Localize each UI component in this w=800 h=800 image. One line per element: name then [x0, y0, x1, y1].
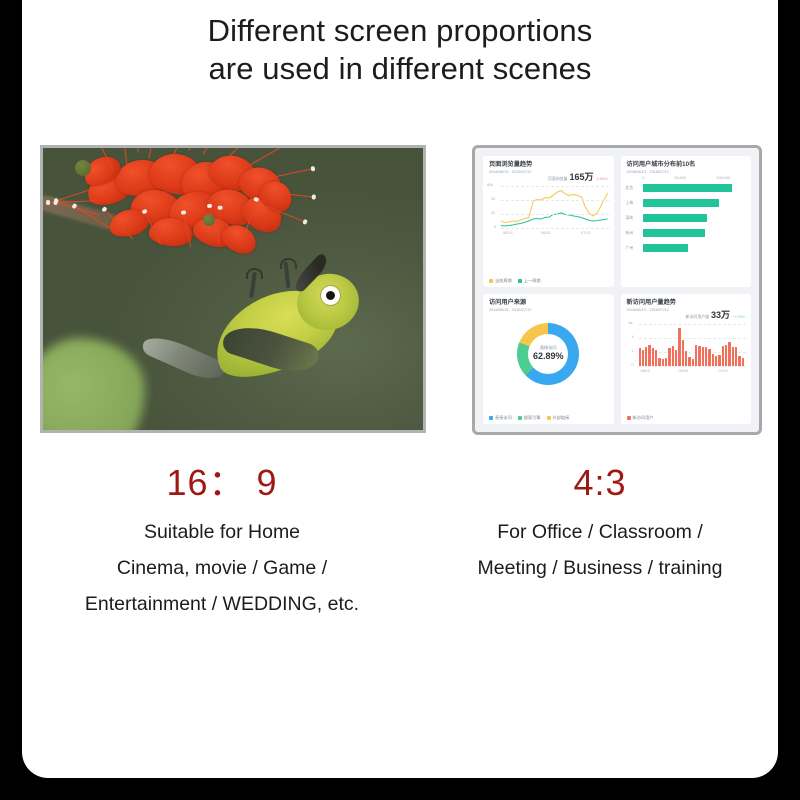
- bar: [708, 349, 710, 366]
- legend-item: 上一周期: [518, 278, 541, 284]
- ratio-label-4x3: 4:3: [422, 462, 778, 504]
- caption-line: Cinema, movie / Game /: [22, 550, 422, 586]
- bird-foot-back: [280, 258, 297, 269]
- y-tick-0: 60k: [487, 183, 493, 187]
- legend-swatch-icon: [627, 416, 631, 420]
- panel-pageview-trend: 页面浏览量趋势 2016/06/13 - 2016/07/12 页面浏览量 16…: [483, 156, 614, 287]
- kpi-delta: -2.50%: [595, 177, 607, 181]
- legend-label: 上一周期: [524, 278, 541, 284]
- bar: [742, 358, 744, 366]
- panel-kpi: 新访问用户量 33万 +7.93%: [686, 308, 745, 321]
- photo-4x3-dashboard: 页面浏览量趋势 2016/06/13 - 2016/07/12 页面浏览量 16…: [472, 145, 762, 435]
- legend-label: 直接访问: [495, 415, 512, 421]
- x-tick-0: 06/13: [641, 369, 651, 373]
- page-title: Different screen proportions are used in…: [22, 12, 778, 88]
- y-tick-1: 4: [632, 335, 634, 339]
- media-row: 页面浏览量趋势 2016/06/13 - 2016/07/12 页面浏览量 16…: [22, 145, 778, 437]
- y-tick-2: 2: [632, 349, 634, 353]
- legend-swatch-icon: [518, 416, 522, 420]
- x-tick-0: 0: [643, 176, 645, 180]
- panel-kpi: 页面浏览量 165万 -2.50%: [548, 170, 608, 183]
- bar-plot-area: [639, 324, 747, 366]
- y-tick-2: 20: [491, 211, 495, 215]
- y-tick-3: 0: [632, 363, 634, 367]
- legend-swatch-icon: [518, 279, 522, 283]
- category-label: 北京: [626, 186, 634, 191]
- bird-eye: [326, 291, 335, 300]
- screenshot-root: Different screen proportions are used in…: [0, 0, 800, 800]
- bar: [682, 340, 684, 365]
- bar: [712, 354, 714, 365]
- caption-text-4x3: For Office / Classroom / Meeting / Busin…: [422, 514, 778, 586]
- page-card: Different screen proportions are used in…: [22, 0, 778, 778]
- bar: [678, 328, 680, 366]
- legend-item: 搜索引擎: [518, 415, 541, 421]
- bar: [688, 357, 690, 365]
- caption-line: For Office / Classroom /: [422, 514, 778, 550]
- bar: [738, 356, 740, 365]
- captions-row: 16： 9 Suitable for Home Cinema, movie / …: [22, 462, 778, 662]
- caption-line: Entertainment / WEDDING, etc.: [22, 586, 422, 622]
- legend-label: 新访问用户: [633, 415, 654, 421]
- panel-city-distribution: 访问用户城市分布前10名 2016/06/13 - 2016/07/12 0 5…: [621, 156, 752, 287]
- legend-item: 新访问用户: [627, 415, 654, 421]
- category-label: 上海: [626, 201, 634, 206]
- caption-16x9: 16： 9 Suitable for Home Cinema, movie / …: [22, 462, 422, 622]
- panel-title: 访问用户城市分布前10名: [627, 161, 746, 169]
- bar: [728, 342, 730, 365]
- page-title-line-1: Different screen proportions: [22, 12, 778, 50]
- bar: [643, 199, 719, 207]
- panel-subtitle: 2016/06/13 - 2016/07/12: [627, 169, 746, 175]
- bird-foot-front: [246, 268, 263, 279]
- x-tick-2: 07/12: [719, 369, 729, 373]
- donut-center-value: 62.89%: [533, 351, 564, 362]
- caption-line: Suitable for Home: [22, 514, 422, 550]
- legend-swatch-icon: [489, 416, 493, 420]
- kpi-label: 新访问用户量: [686, 314, 709, 320]
- panel-legend: 当前周期 上一周期: [489, 278, 541, 284]
- category-label: 广州: [626, 246, 634, 251]
- kpi-label: 页面浏览量: [548, 176, 567, 182]
- kpi-value: 165万: [569, 170, 593, 183]
- dashboard-grid: 页面浏览量趋势 2016/06/13 - 2016/07/12 页面浏览量 16…: [483, 156, 751, 424]
- panel-subtitle: 2016/06/13 - 2016/07/12: [489, 307, 608, 313]
- bar: [685, 351, 687, 366]
- bar: [695, 345, 697, 365]
- category-label: 深圳: [626, 216, 634, 221]
- x-tick-1: 50,000: [675, 176, 687, 180]
- legend-item: 外部链接: [547, 415, 570, 421]
- bar: [732, 347, 734, 365]
- legend-label: 搜索引擎: [524, 415, 541, 421]
- bar: [705, 347, 707, 366]
- bar: [665, 358, 667, 366]
- donut-ring: 直接访问 62.89%: [517, 323, 579, 385]
- caption-line: Meeting / Business / training: [422, 550, 778, 586]
- legend-label: 外部链接: [553, 415, 570, 421]
- bar: [643, 229, 705, 237]
- bar: [735, 347, 737, 366]
- bar: [645, 347, 647, 365]
- category-label: 杭州: [626, 231, 634, 236]
- bar: [658, 358, 660, 365]
- x-tick-0: 06/13: [503, 231, 513, 235]
- caption-4x3: 4:3 For Office / Classroom / Meeting / B…: [422, 462, 778, 586]
- bar: [668, 348, 670, 366]
- bar: [643, 184, 732, 192]
- line-series-svg: [501, 186, 609, 228]
- bar: [692, 359, 694, 365]
- bar: [643, 214, 707, 222]
- line-plot-area: [501, 186, 609, 228]
- photo-16x9-content: [43, 148, 423, 430]
- panel-legend: 新访问用户: [627, 415, 654, 421]
- kpi-value: 33万: [711, 308, 730, 321]
- panel-title: 页面浏览量趋势: [489, 161, 608, 169]
- legend-swatch-icon: [547, 416, 551, 420]
- bar: [652, 348, 654, 366]
- x-tick-2: 100,000: [717, 176, 731, 180]
- bar: [662, 359, 664, 365]
- donut-chart: 直接访问 62.89%: [517, 323, 579, 385]
- bar: [722, 346, 724, 366]
- caption-text-16x9: Suitable for Home Cinema, movie / Game /…: [22, 514, 422, 622]
- bar: [639, 348, 641, 366]
- panel-title: 新访问用户量趋势: [627, 299, 746, 307]
- bar: [672, 346, 674, 366]
- y-tick-1: 40: [491, 197, 495, 201]
- legend-item: 当前周期: [489, 278, 512, 284]
- y-tick-0: 6k: [629, 321, 633, 325]
- bar: [702, 347, 704, 365]
- x-tick-2: 07/12: [581, 231, 591, 235]
- panel-title: 访问用户来源: [489, 299, 608, 307]
- bar: [715, 356, 717, 366]
- bar: [698, 346, 700, 366]
- bar: [648, 345, 650, 365]
- page-title-line-2: are used in different scenes: [22, 50, 778, 88]
- panel-legend: 直接访问 搜索引擎 外部链接: [489, 415, 569, 421]
- x-tick-1: 06/30: [679, 369, 689, 373]
- bar: [718, 355, 720, 366]
- x-tick-1: 06/30: [541, 231, 551, 235]
- white-eye-bird: [193, 266, 383, 426]
- panel-new-visitor-trend: 新访问用户量趋势 2016/06/13 - 2016/07/12 新访问用户量 …: [621, 294, 752, 425]
- bar: [725, 345, 727, 366]
- panel-visitor-sources: 访问用户来源 2016/06/13 - 2016/07/12 直接访问 62.8…: [483, 294, 614, 425]
- bar: [643, 244, 688, 252]
- legend-label: 当前周期: [495, 278, 512, 284]
- donut-center: 直接访问 62.89%: [528, 334, 568, 374]
- legend-item: 直接访问: [489, 415, 512, 421]
- legend-swatch-icon: [489, 279, 493, 283]
- ratio-label-16x9: 16： 9: [22, 462, 422, 504]
- kpi-delta: +7.93%: [732, 315, 745, 319]
- bar: [642, 350, 644, 366]
- photo-16x9-bird: [40, 145, 426, 433]
- y-tick-3: 0: [494, 225, 496, 229]
